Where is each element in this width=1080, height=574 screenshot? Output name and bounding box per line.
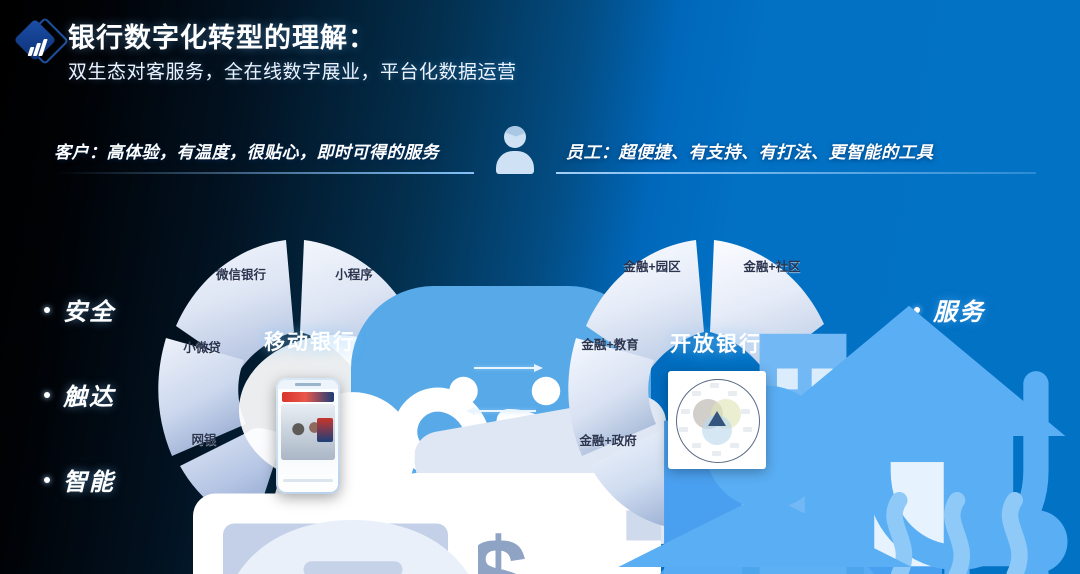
bullet-dot-icon	[44, 477, 50, 483]
svg-text:$: $	[468, 516, 528, 574]
avatar-body	[496, 151, 534, 174]
venn-tag	[730, 443, 739, 448]
venn-tag	[692, 443, 701, 448]
venn-center-triangle	[708, 411, 726, 426]
bullet-label: 生态	[933, 462, 985, 497]
bullet-label: 触达	[63, 377, 115, 412]
bullet-label: 场景	[933, 377, 985, 412]
bullet-right-2: 场景	[914, 377, 985, 412]
bullets-right: 服务 场景 生态	[914, 292, 985, 547]
role-band: 客户：高体验，有温度，很贴心，即时可得的服务 员工：超便捷、有支持、有打法、更智…	[0, 128, 1080, 180]
venn-tag	[712, 451, 721, 456]
bullet-left-3: 智能	[44, 462, 115, 497]
phone-app-mockup	[276, 378, 340, 494]
venn-tag	[743, 427, 752, 432]
venn-tag	[679, 427, 688, 432]
bullet-dot-icon	[914, 477, 920, 483]
brand-logo-icon	[14, 19, 58, 63]
employee-promise-text: 员工：超便捷、有支持、有打法、更智能的工具	[566, 138, 934, 163]
bullet-dot-icon	[914, 392, 920, 398]
arrow-head-right-icon	[534, 364, 543, 372]
venn-tag	[741, 409, 750, 414]
venn-tag	[710, 383, 719, 388]
bullet-dot-icon	[44, 307, 50, 313]
cluster-core-label: 移动银行	[264, 326, 356, 356]
venn-ecosystem-diagram	[668, 371, 766, 469]
bullet-right-1: 服务	[914, 292, 985, 327]
bullet-label: 智能	[63, 462, 115, 497]
bullet-left-1: 安全	[44, 292, 115, 327]
phone-content-row	[283, 479, 333, 482]
venn-tag	[681, 409, 690, 414]
cluster-connectors	[470, 355, 550, 425]
divider-right	[556, 172, 1036, 174]
page-title: 银行数字化转型的理解：	[68, 16, 376, 55]
bullets-left: 安全 触达 智能	[44, 292, 115, 547]
venn-tag	[692, 391, 701, 396]
phone-screen	[278, 380, 338, 492]
divider-left	[54, 172, 474, 174]
arrow-left-to-right	[474, 367, 536, 369]
slide-canvas: 银行数字化转型的理解： 双生态对客服务，全在线数字展业，平台化数据运营 客户：高…	[0, 0, 1080, 574]
bullet-label: 服务	[933, 292, 985, 327]
phone-hero-image	[281, 404, 335, 460]
phone-banner	[282, 392, 334, 402]
venn-tag	[728, 391, 737, 396]
person-avatar-icon	[492, 126, 538, 174]
arrow-head-left-icon	[466, 407, 475, 415]
arrow-right-to-left	[474, 410, 536, 412]
customer-promise-text: 客户：高体验，有温度，很贴心，即时可得的服务	[54, 138, 439, 163]
bullet-label: 安全	[63, 292, 115, 327]
bullet-right-3: 生态	[914, 462, 985, 497]
cluster-core-label: 开放银行	[670, 328, 762, 358]
bullet-left-2: 触达	[44, 377, 115, 412]
bullet-dot-icon	[44, 392, 50, 398]
bullet-dot-icon	[914, 307, 920, 313]
page-subtitle: 双生态对客服务，全在线数字展业，平台化数据运营	[68, 57, 517, 84]
phone-statusbar	[278, 380, 338, 389]
